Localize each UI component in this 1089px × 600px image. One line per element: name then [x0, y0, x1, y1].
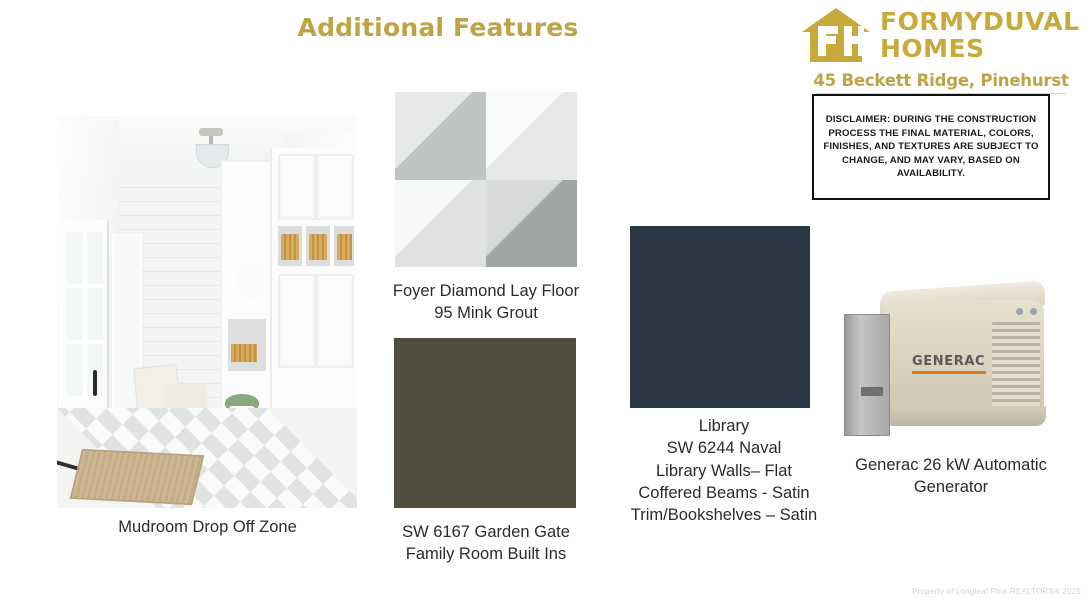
garden-gate-caption: SW 6167 Garden Gate Family Room Built In…	[372, 521, 600, 566]
mudroom-caption: Mudroom Drop Off Zone	[60, 516, 355, 538]
tile-cell	[486, 92, 577, 180]
tile-cell	[395, 180, 486, 268]
footer-watermark: Property of Longleaf Pine REALTORS® 2025	[912, 587, 1081, 596]
disclaimer-box: DISCLAIMER: DURING THE CONSTRUCTION PROC…	[812, 94, 1050, 200]
transfer-switch-panel	[844, 314, 890, 436]
generac-generator-photo: GENERAC	[840, 278, 1060, 448]
fh-house-logo-icon	[800, 6, 872, 64]
naval-caption: Library SW 6244 Naval Library Walls– Fla…	[608, 415, 840, 526]
mudroom-photo	[57, 116, 357, 508]
foyer-tile-caption: Foyer Diamond Lay Floor 95 Mink Grout	[375, 280, 597, 325]
slide-canvas: Additional Features FORMYDUVAL HOMES 45 …	[0, 0, 1089, 600]
foyer-tile-swatch	[395, 92, 577, 267]
brand-name-line1: FORMYDUVAL	[880, 9, 1080, 34]
brand-block: FORMYDUVAL HOMES 45 Beckett Ridge, Pineh…	[800, 6, 1082, 94]
garden-gate-swatch	[394, 338, 576, 508]
page-title: Additional Features	[248, 13, 628, 42]
brand-name-line2: HOMES	[880, 36, 1080, 61]
generac-brand-text: GENERAC	[912, 354, 985, 369]
naval-swatch	[630, 226, 810, 408]
generator-caption: Generac 26 kW Automatic Generator	[828, 454, 1074, 499]
tile-cell	[486, 180, 577, 268]
disclaimer-text: DISCLAIMER: DURING THE CONSTRUCTION PROC…	[814, 113, 1048, 181]
tile-cell	[395, 92, 486, 180]
door-mat	[70, 449, 205, 505]
brand-address: 45 Beckett Ridge, Pinehurst	[800, 71, 1082, 90]
